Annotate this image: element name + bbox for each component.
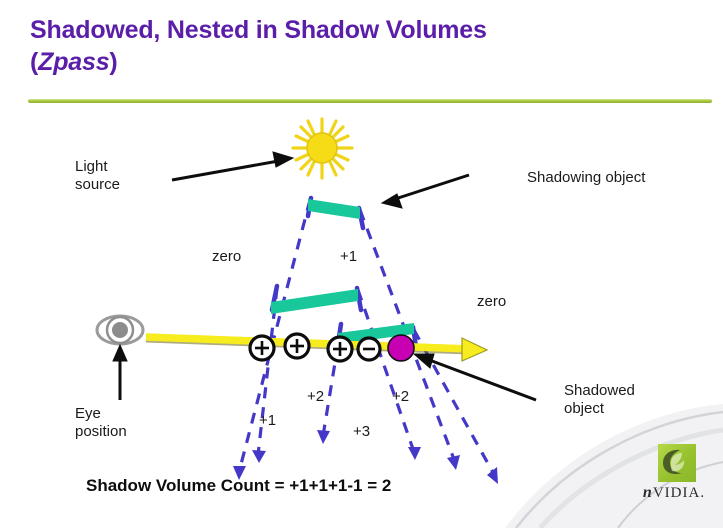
shadow-volume-count-expression: Shadow Volume Count = +1+1+1-1 = 2 [86, 476, 391, 496]
shadowing-object-label: Shadowing object [527, 169, 645, 187]
crossing-marker-plus-2 [285, 334, 309, 358]
edge-arrowhead-3 [317, 430, 330, 444]
nvidia-wordmark-rest: VIDIA. [653, 485, 705, 501]
light-source-label: Light source [75, 158, 120, 195]
eye-icon [97, 316, 143, 344]
shadowed-object-label: Shadowed object [564, 382, 635, 419]
count-label-plus-one-top: +1 [340, 248, 357, 266]
shadow-volume-diagram [0, 0, 723, 528]
nvidia-wordmark: nVIDIA. [634, 484, 714, 502]
occluder-top [308, 198, 363, 228]
count-label-zero-left: zero [212, 248, 241, 266]
crossing-marker-plus-1 [250, 336, 274, 360]
count-label-plus-three: +3 [353, 423, 370, 441]
crossing-marker-plus-3 [328, 337, 352, 361]
count-label-plus-two-right: +2 [392, 388, 409, 406]
crossing-marker-minus-1 [358, 338, 380, 360]
nvidia-logo: nVIDIA. [634, 444, 714, 516]
nvidia-eye-glyph [658, 444, 696, 482]
eye-position-label: Eye position [75, 405, 127, 442]
nvidia-eye-mark-icon [658, 444, 696, 482]
count-label-zero-right: zero [477, 293, 506, 311]
edge-arrowhead-5 [408, 447, 421, 460]
annotation-arrows [113, 152, 536, 400]
nvidia-wordmark-n: n [643, 484, 653, 501]
edge-arrowhead-2 [252, 450, 266, 463]
edge-arrowhead-4 [447, 455, 460, 470]
occluder-middle [271, 286, 361, 314]
eye-ray [146, 337, 487, 361]
count-label-plus-one-bottom: +1 [259, 412, 276, 430]
shadowed-point-marker [388, 335, 414, 361]
sun-icon [293, 119, 352, 178]
slide-root: Shadowed, Nested in Shadow Volumes (Zpas… [0, 0, 723, 528]
eye-ray-arrowhead [462, 338, 487, 361]
count-label-plus-two-left: +2 [307, 388, 324, 406]
